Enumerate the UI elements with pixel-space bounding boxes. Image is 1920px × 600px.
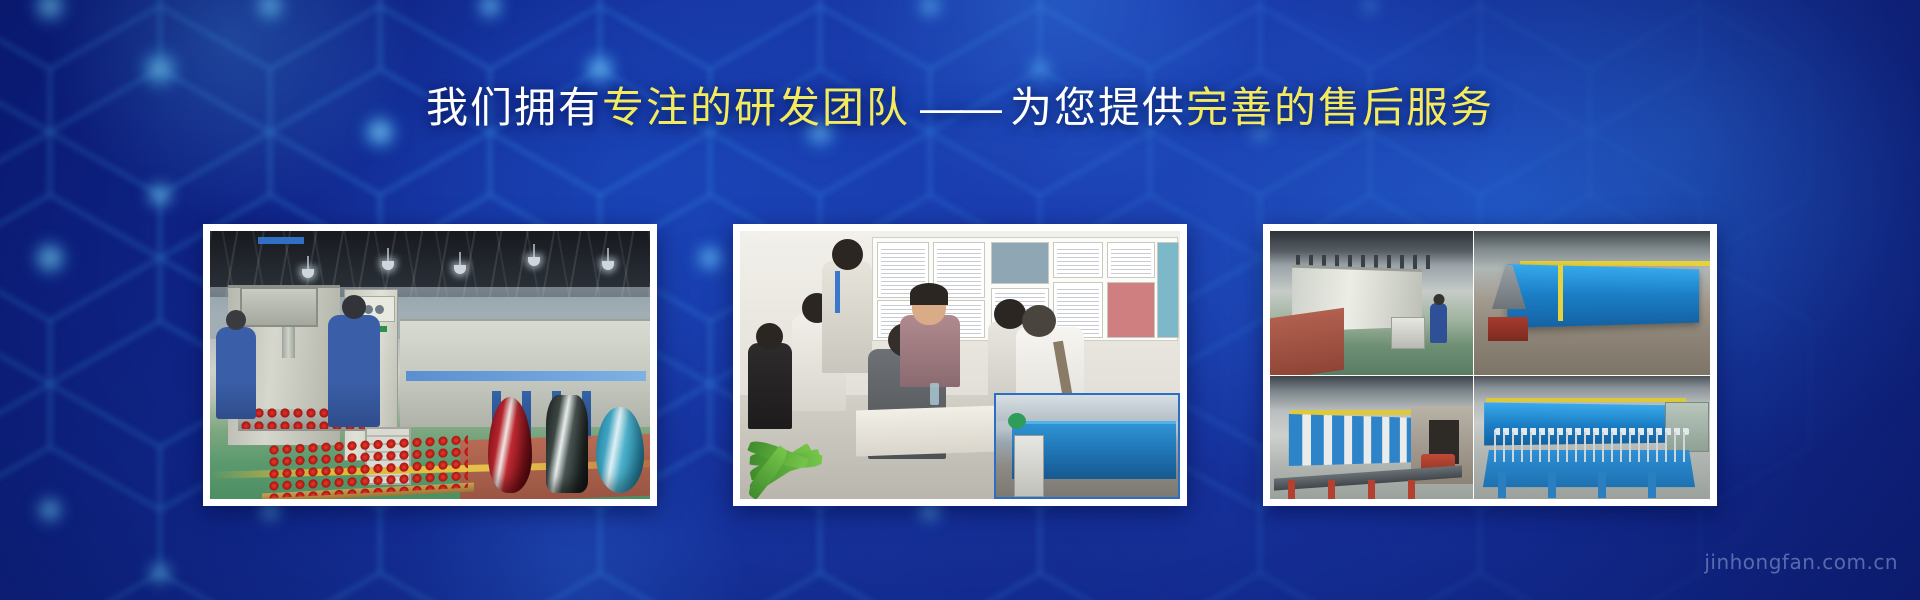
potted-palm-plant — [740, 401, 860, 499]
certificate-poster — [1053, 242, 1103, 278]
red-glass-products — [268, 434, 468, 498]
hanger-rods — [1494, 432, 1690, 462]
rack-leg — [1548, 472, 1556, 498]
banner-headline: 我们拥有专注的研发团队——为您提供完善的售后服务 — [0, 84, 1920, 129]
participant-head — [756, 323, 783, 350]
blue-drying-tunnel — [1507, 264, 1699, 328]
chart-poster — [1107, 282, 1155, 338]
equipment-inset-photo — [994, 393, 1180, 499]
rack-leg — [1598, 472, 1606, 498]
headline-segment-4: 完善的售后服务 — [1186, 84, 1494, 131]
photo-production-line — [210, 231, 650, 499]
diagram-poster — [1157, 242, 1179, 338]
photo-card-equipment-collage[interactable] — [1263, 224, 1717, 506]
standing-presenter — [822, 261, 872, 373]
machine-hood — [240, 287, 318, 327]
participant-hair — [910, 283, 948, 305]
factory-worker — [1430, 303, 1447, 343]
rack-leg — [1648, 472, 1656, 498]
factory-worker — [328, 315, 380, 427]
photo-card-production-line[interactable] — [203, 224, 657, 506]
water-bottle — [930, 383, 939, 405]
conveyor-leg — [1288, 480, 1295, 499]
inset-green-wheel — [1008, 413, 1026, 429]
inset-control-cabinet — [1014, 435, 1044, 497]
factory-worker — [216, 327, 256, 419]
photo-gallery — [0, 224, 1920, 506]
promo-banner: 我们拥有专注的研发团队——为您提供完善的售后服务 — [0, 0, 1920, 600]
panel-button — [380, 326, 387, 332]
photo-equipment-collage — [1270, 231, 1710, 499]
site-watermark: jinhongfan.com.cn — [1704, 550, 1898, 574]
machine-blue-label — [258, 237, 304, 244]
rack-leg — [1498, 472, 1506, 498]
conveyor-leg — [1368, 480, 1375, 499]
photo-2-scene — [740, 231, 1180, 499]
conveyor-leg — [1408, 480, 1415, 499]
photo-card-team-meeting[interactable] — [733, 224, 1187, 506]
headline-segment-1: 我们拥有 — [426, 84, 602, 131]
certificate-poster — [1107, 242, 1155, 278]
yellow-gas-pipe — [1486, 398, 1686, 402]
floor-red-zone — [1270, 308, 1344, 375]
yellow-gas-riser — [1558, 265, 1563, 321]
equipment-photo-poster — [991, 242, 1049, 284]
gauge-icon — [375, 305, 384, 314]
photo-1-scene — [210, 231, 650, 499]
headline-dash: —— — [910, 84, 1010, 131]
photo-3-collage — [1270, 231, 1710, 499]
photo-team-meeting — [740, 231, 1180, 499]
meeting-participant — [900, 315, 960, 387]
headline-segment-2: 专注的研发团队 — [602, 84, 910, 131]
collage-panel-conveyor — [1270, 376, 1473, 499]
tunnel-blue-strip — [406, 371, 646, 381]
equipment-cart — [1391, 317, 1425, 349]
participant-head — [994, 299, 1026, 329]
striped-oven-line — [1289, 414, 1412, 466]
lanyard — [835, 271, 840, 313]
black-vase — [546, 395, 588, 493]
headline-segment-3: 为您提供 — [1010, 84, 1186, 131]
collage-panel-blue-oven — [1474, 231, 1710, 375]
presenter-head — [832, 239, 863, 270]
blue-vase — [596, 407, 644, 493]
machine-base — [1488, 317, 1528, 341]
collage-panel-hanger-line — [1474, 376, 1710, 499]
collage-panel-coating-line — [1270, 231, 1473, 375]
participant-head — [1022, 305, 1056, 337]
conveyor-leg — [1328, 480, 1335, 499]
